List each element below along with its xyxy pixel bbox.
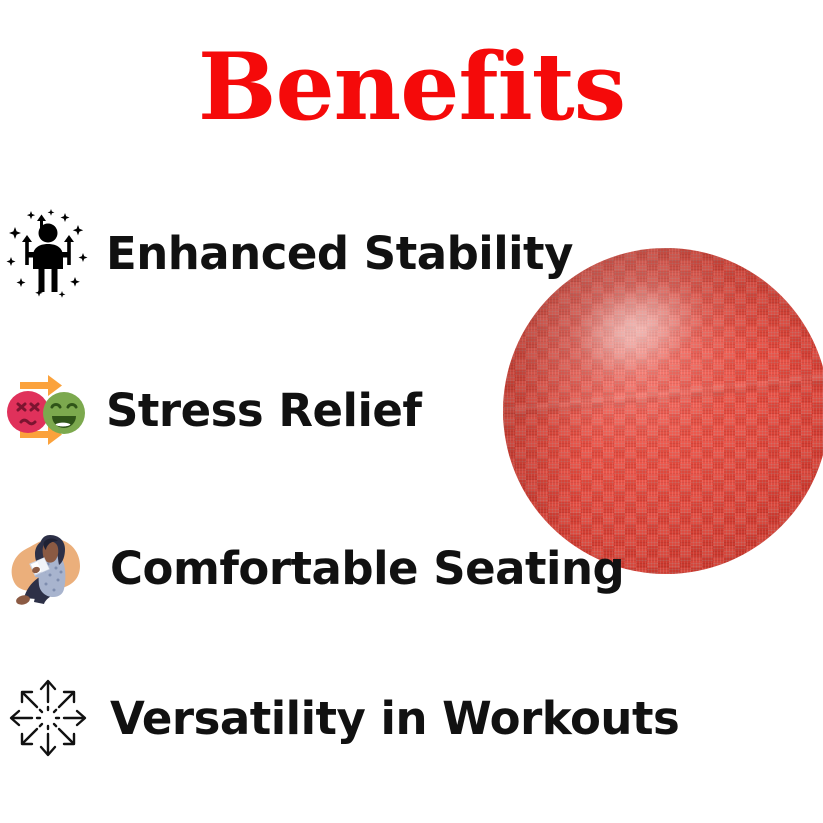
eight-direction-arrows-icon — [6, 672, 90, 764]
person-with-upward-arrows-icon — [6, 205, 90, 301]
benefit-label: Comfortable Seating — [110, 546, 624, 591]
benefit-row-enhanced-stability: Enhanced Stability — [6, 205, 706, 301]
benefits-poster: Benefits — [0, 0, 823, 823]
benefit-label: Enhanced Stability — [106, 231, 573, 276]
sad-face-to-happy-face-arrows-icon — [6, 368, 90, 452]
benefit-row-stress-relief: Stress Relief — [6, 368, 706, 452]
page-title: Benefits — [0, 38, 823, 136]
benefit-label: Stress Relief — [106, 388, 422, 433]
benefit-row-comfortable-seating: Comfortable Seating — [6, 520, 706, 616]
person-reading-on-beanbag-icon — [6, 520, 90, 616]
benefit-label: Versatility in Workouts — [110, 696, 679, 741]
benefit-row-versatility-in-workouts: Versatility in Workouts — [6, 672, 706, 764]
